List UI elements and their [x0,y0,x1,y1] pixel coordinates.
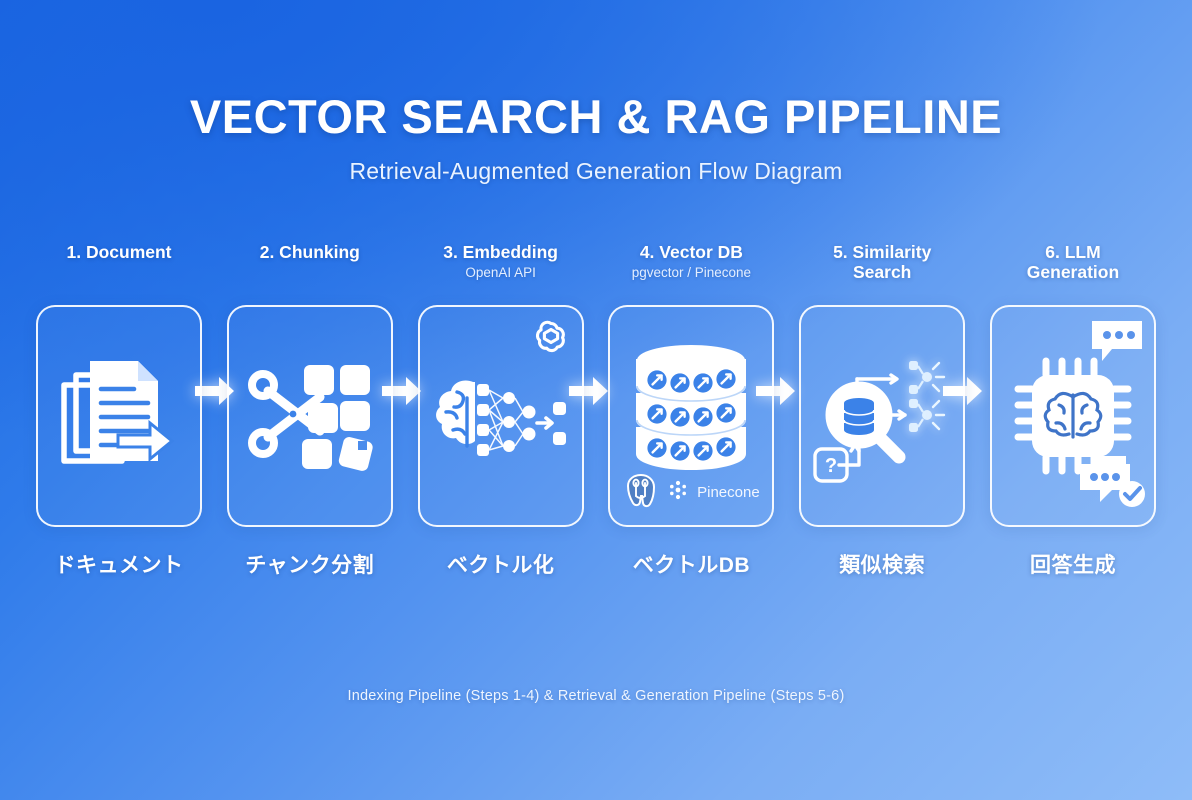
step-4-caption: ベクトルDB [633,549,750,579]
step-3-subtitle: OpenAI API [418,265,584,280]
documents-stack-icon [58,351,180,481]
step-1-card[interactable] [36,305,202,527]
diagram-canvas: VECTOR SEARCH & RAG PIPELINE Retrieval-A… [0,0,1192,800]
pipeline-step-llm-generation[interactable]: 6. LLM Generation [990,243,1156,579]
step-6-card[interactable] [990,305,1156,527]
step-6-title: 6. LLM Generation [990,243,1156,282]
step-3-title: 3. Embedding [418,243,584,263]
step-2-card[interactable] [227,305,393,527]
brain-neural-network-icon [433,354,569,478]
step-5-card[interactable]: ? [799,305,965,527]
step-4-head: 4. Vector DB pgvector / Pinecone [608,243,774,305]
pipeline-step-document[interactable]: 1. Document [36,243,202,579]
step-5-caption: 類似検索 [839,549,925,579]
pipeline-row: 1. Document [36,243,1156,579]
pipeline-step-chunking[interactable]: 2. Chunking [227,243,393,579]
chat-bubble-top-icon [1088,317,1146,370]
pipeline-step-vector-db[interactable]: 4. Vector DB pgvector / Pinecone [608,243,774,579]
pinecone-logo-text: Pinecone [697,484,760,501]
step-3-card[interactable] [418,305,584,527]
step-4-subtitle: pgvector / Pinecone [608,265,774,280]
step-6-caption: 回答生成 [1030,549,1116,579]
page-title: VECTOR SEARCH & RAG PIPELINE [0,92,1192,141]
step-4-title: 4. Vector DB [608,243,774,263]
step-1-title: 1. Document [36,243,202,263]
vector-database-cylinder-icon [629,338,753,470]
magnifier-database-search-icon: ? [809,341,955,491]
pipeline-step-embedding[interactable]: 3. Embedding OpenAI API [418,243,584,579]
step-1-head: 1. Document [36,243,202,305]
step-2-caption: チャンク分割 [245,549,374,579]
header: VECTOR SEARCH & RAG PIPELINE Retrieval-A… [0,0,1192,185]
step-3-caption: ベクトル化 [447,549,555,579]
chat-bubble-bottom-icon [1074,456,1148,517]
page-subtitle: Retrieval-Augmented Generation Flow Diag… [0,158,1192,185]
step-2-title: 2. Chunking [227,243,393,263]
step-3-head: 3. Embedding OpenAI API [418,243,584,305]
pinecone-logo-mark [668,480,688,505]
step-5-head: 5. Similarity Search [799,243,965,305]
footer-note: Indexing Pipeline (Steps 1-4) & Retrieva… [0,688,1192,704]
pipeline-step-similarity-search[interactable]: 5. Similarity Search [799,243,965,579]
step-4-card[interactable]: Pinecone [608,305,774,527]
step-1-caption: ドキュメント [55,549,184,579]
postgresql-logo [623,472,659,513]
step-4-logo-row: Pinecone [610,472,772,513]
step-6-head: 6. LLM Generation [990,243,1156,305]
step-5-title: 5. Similarity Search [799,243,965,282]
scissors-chunks-icon [246,353,374,479]
svg-text:?: ? [825,455,837,477]
openai-logo [531,316,571,361]
step-2-head: 2. Chunking [227,243,393,305]
